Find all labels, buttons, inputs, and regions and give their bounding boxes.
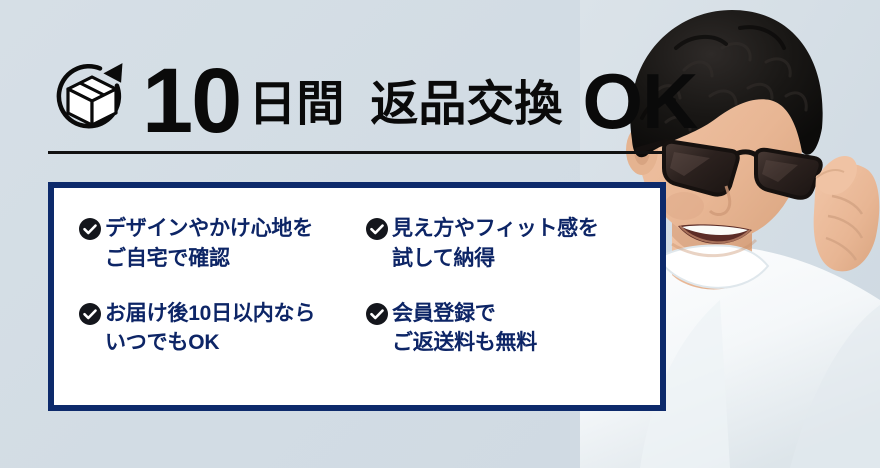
days-number: 10	[142, 55, 240, 147]
feature-text: 会員登録で ご返送料も無料	[392, 299, 537, 359]
check-circle-icon	[78, 217, 102, 241]
return-policy-banner: 10 日間 返品交換 OK デザインやかけ心地を ご自宅で確認	[0, 0, 880, 468]
feature-text: お届け後10日以内なら いつでもOK	[105, 299, 315, 359]
days-unit: 日間	[248, 81, 344, 129]
return-exchange-label: 返品交換	[370, 81, 562, 129]
feature-text: デザインやかけ心地を ご自宅で確認	[105, 214, 313, 274]
feature-item-fit: 見え方やフィット感を 試して納得	[365, 214, 652, 299]
feature-item-free-shipping: 会員登録で ご返送料も無料	[365, 299, 652, 384]
headline: 10 日間 返品交換 OK	[48, 46, 697, 152]
feature-box: デザインやかけ心地を ご自宅で確認 見え方やフィット感を 試して納得	[48, 182, 666, 411]
feature-item-deadline: お届け後10日以内なら いつでもOK	[78, 299, 365, 384]
check-circle-icon	[78, 302, 102, 326]
ok-label: OK	[582, 62, 697, 140]
check-circle-icon	[365, 302, 389, 326]
headline-divider	[48, 151, 662, 154]
check-circle-icon	[365, 217, 389, 241]
return-box-icon	[48, 55, 136, 143]
feature-text: 見え方やフィット感を 試して納得	[392, 214, 599, 274]
feature-item-design: デザインやかけ心地を ご自宅で確認	[78, 214, 365, 299]
